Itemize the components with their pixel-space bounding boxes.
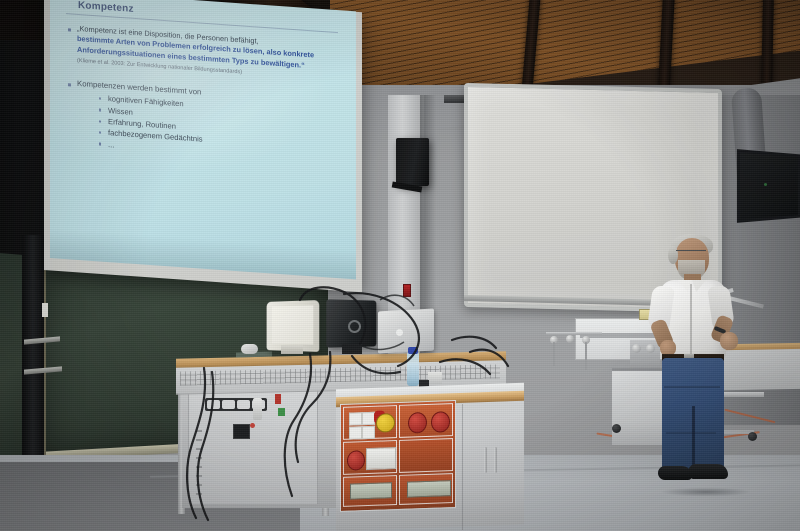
cart-wheel xyxy=(612,424,621,433)
power-socket[interactable] xyxy=(362,426,375,439)
power-socket[interactable] xyxy=(222,400,235,409)
cee-socket-red[interactable] xyxy=(408,412,427,434)
cee-socket-red[interactable] xyxy=(347,450,365,471)
photo-canvas: Kompetenz „Kompetenz ist eine Dispositio… xyxy=(0,0,800,531)
shirt-placket xyxy=(690,284,692,354)
monitor-logo-icon xyxy=(348,320,361,333)
presenter-hand-right xyxy=(720,332,738,350)
crt-monitor-screen xyxy=(272,305,313,344)
panel-cell-blank xyxy=(399,438,453,473)
slide-bullet-lead: Kompetenzen werden bestimmt von xyxy=(77,79,203,97)
panel-cell-cee-window xyxy=(343,440,397,475)
gas-pipe xyxy=(585,342,587,370)
presenter xyxy=(640,236,770,496)
bullet-square-icon-2 xyxy=(68,83,71,86)
emergency-stop-switch[interactable] xyxy=(376,413,395,433)
wall-gas-rail xyxy=(546,332,602,335)
gas-tap[interactable] xyxy=(566,335,574,343)
presenter-shoe-left xyxy=(658,466,692,480)
panel-button-green[interactable] xyxy=(278,408,285,416)
crt-monitor-stand xyxy=(281,345,303,354)
wall-switch[interactable] xyxy=(42,303,48,317)
computer-mouse[interactable] xyxy=(241,344,258,354)
desk-small-box xyxy=(428,372,442,384)
power-socket[interactable] xyxy=(237,400,250,409)
panel-cell-sockets xyxy=(343,405,397,440)
fire-alarm-icon xyxy=(403,284,411,297)
panel-indicator-lamp xyxy=(250,423,255,428)
cabinet-handle-right[interactable] xyxy=(494,447,497,473)
wall-loudspeaker xyxy=(396,138,429,186)
cee-socket-red[interactable] xyxy=(431,411,450,433)
presenter-shoe-right xyxy=(688,464,728,479)
wall-flat-panel-monitor xyxy=(737,149,800,223)
panel-cell-cee xyxy=(399,403,453,438)
jeans-leg-split xyxy=(692,406,695,470)
slide-bullet-list: Kompetenzen werden bestimmt von kognitiv… xyxy=(68,78,346,166)
panel-switch[interactable] xyxy=(233,424,250,439)
lcd-monitor-stand xyxy=(342,344,362,354)
glasses-icon xyxy=(676,250,706,257)
panel-cell-display-left xyxy=(343,475,397,507)
panel-cell-display-right xyxy=(399,473,453,505)
laptop-logo-icon xyxy=(396,329,403,336)
jeans-fold xyxy=(664,386,720,388)
gas-pipe xyxy=(553,342,555,366)
panel-screw-row xyxy=(196,430,202,500)
power-socket[interactable] xyxy=(349,426,362,439)
laptop[interactable] xyxy=(378,309,434,354)
cabinet-handle-left[interactable] xyxy=(484,447,487,473)
electrical-panel xyxy=(340,400,456,512)
panel-window xyxy=(366,447,396,470)
panel-button-red[interactable] xyxy=(275,394,281,404)
panel-display xyxy=(350,482,392,499)
power-socket[interactable] xyxy=(349,412,362,425)
panel-display xyxy=(407,480,451,498)
slide-bullet-quote: „Kompetenz ist eine Disposition, die Per… xyxy=(68,23,346,84)
bullet-square-icon xyxy=(68,28,71,31)
cabinet-door-split xyxy=(462,404,463,530)
power-socket[interactable] xyxy=(207,400,220,409)
monitor-power-led xyxy=(764,183,767,186)
water-bottle xyxy=(407,352,419,386)
bottle-cap xyxy=(408,347,418,354)
slide-sub-bullets: kognitiven Fähigkeiten Wissen Erfahrung,… xyxy=(99,93,203,157)
panel-indicator-strip xyxy=(253,398,262,420)
jeans-fold xyxy=(666,432,716,434)
